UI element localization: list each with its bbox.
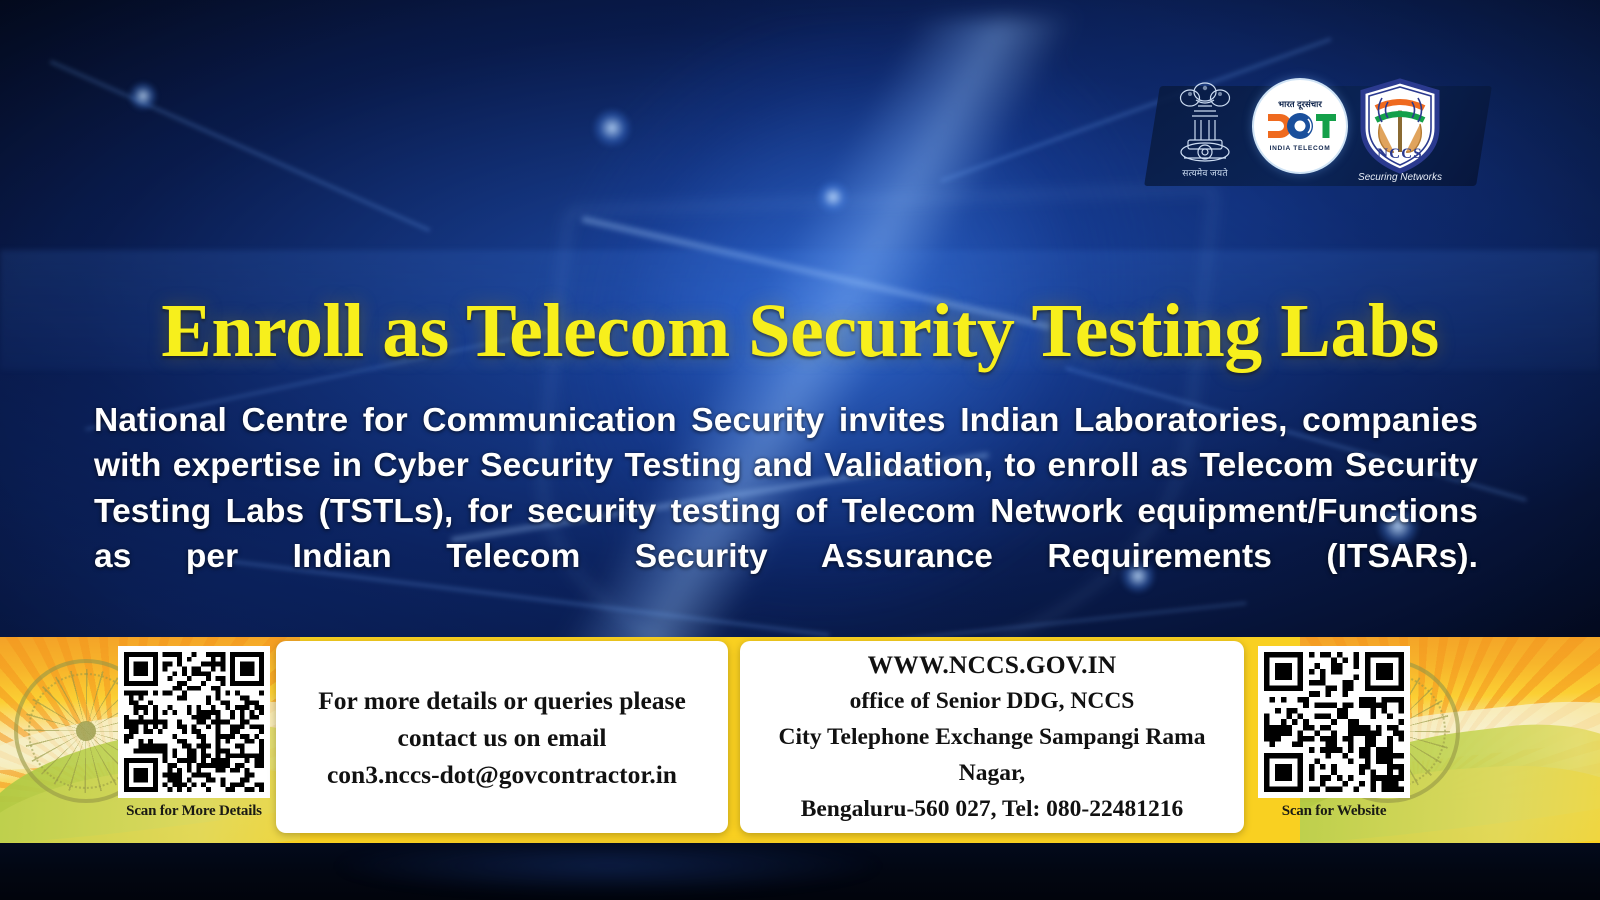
address-line-3: City Telephone Exchange Sampangi Rama	[779, 719, 1206, 755]
address-line-5: Bengaluru-560 027, Tel: 080-22481216	[779, 791, 1206, 827]
qr-code-image[interactable]	[1258, 646, 1410, 798]
website-url[interactable]: WWW.NCCS.GOV.IN	[779, 647, 1206, 683]
dot-letters-icon	[1264, 109, 1336, 143]
state-emblem-logo: सत्यमेव जयते	[1168, 78, 1242, 179]
qr-code-image[interactable]	[118, 646, 270, 798]
qr-more-details-caption: Scan for More Details	[118, 803, 270, 820]
dot-subtitle: INDIA TELECOM	[1270, 145, 1331, 152]
address-card: WWW.NCCS.GOV.IN office of Senior DDG, NC…	[740, 641, 1244, 833]
nccs-logo: NCCS Securing Networks	[1358, 78, 1442, 183]
body-paragraph: National Centre for Communication Securi…	[94, 398, 1478, 626]
address-line-2: office of Senior DDG, NCCS	[779, 683, 1206, 719]
dot-hindi-text: भारत दूरसंचार	[1278, 100, 1322, 109]
qr-website[interactable]: Scan for Website	[1258, 646, 1410, 820]
contact-card-text: For more details or queries please conta…	[306, 682, 698, 793]
poster-root: सत्यमेव जयते भारत दूरसंचार INDIA TELECOM	[0, 0, 1600, 900]
dot-logo: भारत दूरसंचार INDIA TELECOM	[1252, 78, 1348, 174]
nccs-acronym-text: NCCS	[1377, 146, 1423, 162]
dot-logo-circle: भारत दूरसंचार INDIA TELECOM	[1252, 78, 1348, 174]
india-state-emblem-icon	[1168, 78, 1242, 170]
contact-card: For more details or queries please conta…	[276, 641, 728, 833]
address-card-text: WWW.NCCS.GOV.IN office of Senior DDG, NC…	[773, 647, 1212, 827]
contact-email[interactable]: con3.nccs-dot@govcontractor.in	[318, 756, 686, 793]
page-title: Enroll as Telecom Security Testing Labs	[0, 293, 1600, 369]
contact-line-2: contact us on email	[318, 719, 686, 756]
qr-website-caption: Scan for Website	[1258, 803, 1410, 820]
address-line-4: Nagar,	[779, 755, 1206, 791]
nccs-shield-icon: NCCS	[1358, 78, 1442, 174]
qr-more-details[interactable]: Scan for More Details	[118, 646, 270, 820]
contact-line-1: For more details or queries please	[318, 682, 686, 719]
logo-group: सत्यमेव जयते भारत दूरसंचार INDIA TELECOM	[1168, 78, 1488, 200]
bottom-glow	[288, 846, 928, 896]
